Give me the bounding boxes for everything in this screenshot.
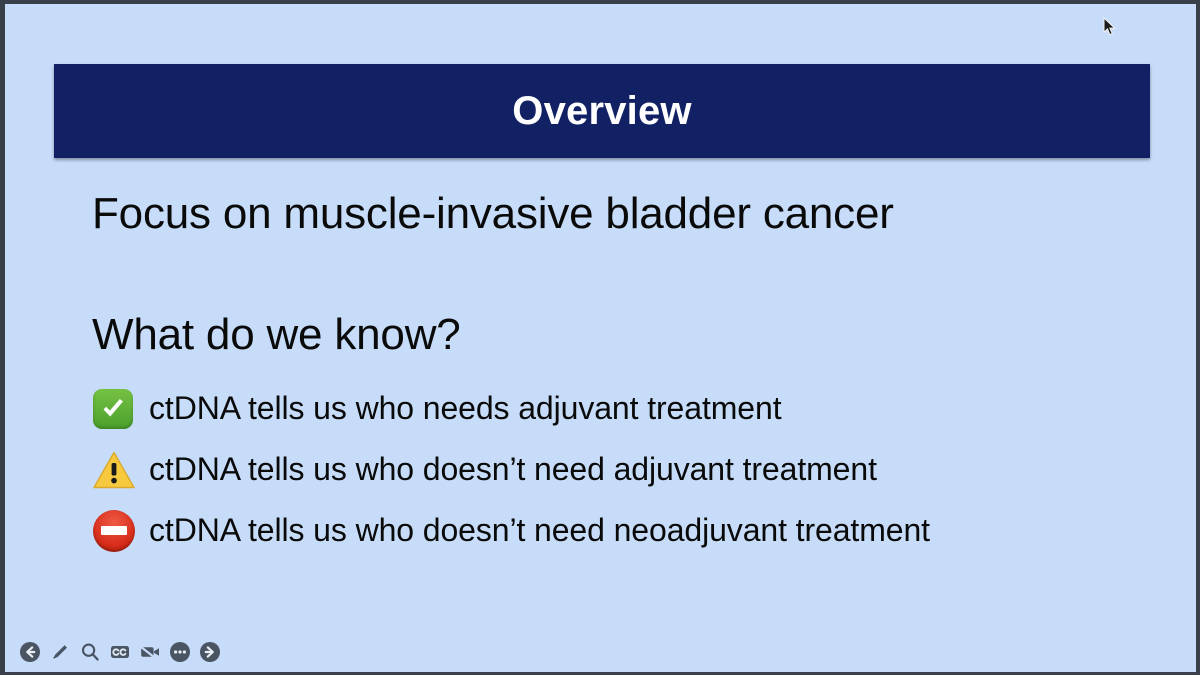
- list-item: ctDNA tells us who needs adjuvant treatm…: [93, 378, 930, 439]
- presentation-viewer: Overview Focus on muscle-invasive bladde…: [0, 0, 1200, 675]
- more-options-icon[interactable]: [166, 638, 194, 666]
- closed-captions-icon[interactable]: [106, 638, 134, 666]
- no-entry-icon: [93, 510, 149, 552]
- back-arrow-icon[interactable]: [16, 638, 44, 666]
- slide-canvas: Overview Focus on muscle-invasive bladde…: [5, 4, 1196, 672]
- viewer-toolbar: [10, 635, 1196, 669]
- pencil-icon[interactable]: [46, 638, 74, 666]
- magnifier-icon[interactable]: [76, 638, 104, 666]
- list-item-label: ctDNA tells us who doesn’t need adjuvant…: [149, 451, 877, 488]
- forward-arrow-icon[interactable]: [196, 638, 224, 666]
- slide-section-question: What do we know?: [92, 311, 461, 359]
- check-mark-button-icon: [93, 389, 149, 429]
- bullet-list: ctDNA tells us who needs adjuvant treatm…: [93, 378, 930, 561]
- warning-triangle-icon: [93, 451, 149, 489]
- slide-title-banner: Overview: [54, 64, 1150, 158]
- list-item-label: ctDNA tells us who doesn’t need neoadjuv…: [149, 512, 930, 549]
- slide-body: Focus on muscle-invasive bladder cancer …: [92, 190, 1152, 238]
- list-item: ctDNA tells us who doesn’t need adjuvant…: [93, 439, 930, 500]
- list-item-label: ctDNA tells us who needs adjuvant treatm…: [149, 390, 781, 427]
- video-off-icon[interactable]: [136, 638, 164, 666]
- list-item: ctDNA tells us who doesn’t need neoadjuv…: [93, 500, 930, 561]
- window-frame-right: [1196, 0, 1200, 675]
- slide-title: Overview: [512, 89, 692, 134]
- slide-headline: Focus on muscle-invasive bladder cancer: [92, 190, 1152, 238]
